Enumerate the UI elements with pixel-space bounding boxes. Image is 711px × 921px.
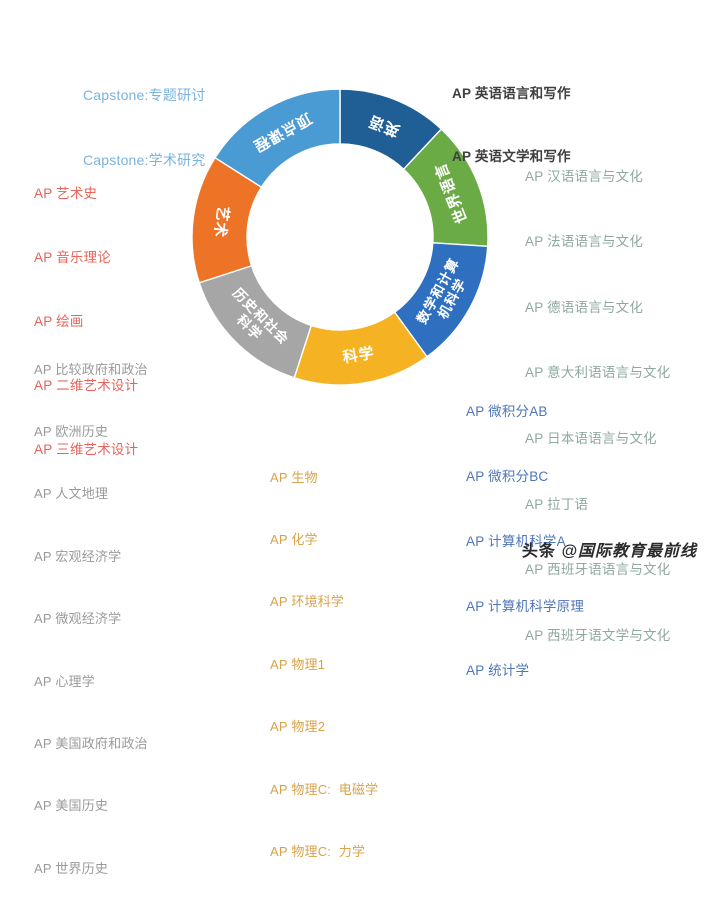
watermark-handle: @国际教育最前线 [561, 543, 697, 560]
list-item: AP 统计学 [466, 660, 584, 682]
list-item: AP 物理2 [270, 717, 378, 738]
list-item: AP 微积分AB [466, 401, 584, 423]
list-arts: AP 艺术史 AP 音乐理论 AP 绘画 AP 二维艺术设计 AP 三维艺术设计 [34, 140, 138, 503]
list-item: AP 微观经济学 [34, 609, 148, 630]
list-item: AP 美国历史 [34, 796, 148, 817]
donut-segment-group [192, 89, 488, 385]
list-item: AP 物理C: 电磁学 [270, 780, 378, 801]
list-item: AP 心理学 [34, 672, 148, 693]
watermark-source: 头条 [522, 543, 556, 560]
list-item: AP 环境科学 [270, 592, 378, 613]
list-item: AP 计算机科学原理 [466, 596, 584, 618]
list-item: AP 物理1 [270, 655, 378, 676]
list-item: AP 音乐理论 [34, 247, 138, 268]
list-item: AP 汉语语言与文化 [525, 166, 670, 188]
list-item: AP 英语语言和写作 [452, 84, 571, 105]
list-item: AP 生物 [270, 468, 378, 489]
list-item: AP 法语语言与文化 [525, 231, 670, 253]
list-item: AP 美国政府和政治 [34, 734, 148, 755]
list-item: AP 宏观经济学 [34, 547, 148, 568]
list-item: AP 绘画 [34, 311, 138, 332]
list-item: AP 物理C: 力学 [270, 842, 378, 863]
list-science: AP 生物 AP 化学 AP 环境科学 AP 物理1 AP 物理2 AP 物理C… [270, 426, 378, 904]
list-item: AP 二维艺术设计 [34, 375, 138, 396]
list-item: AP 微积分BC [466, 466, 584, 488]
list-item: AP 世界历史 [34, 859, 148, 880]
list-item: AP 德语语言与文化 [525, 297, 670, 319]
chart-canvas: 英语世界语言数学和计算机科学科学历史和社会科学艺术顶点课程 Capstone:专… [0, 0, 711, 573]
list-item: Capstone:专题研讨 [83, 85, 205, 107]
list-item: AP 三维艺术设计 [34, 439, 138, 460]
list-item: AP 化学 [270, 530, 378, 551]
watermark: 头条 @国际教育最前线 [522, 537, 697, 561]
list-item: AP 艺术史 [34, 183, 138, 204]
